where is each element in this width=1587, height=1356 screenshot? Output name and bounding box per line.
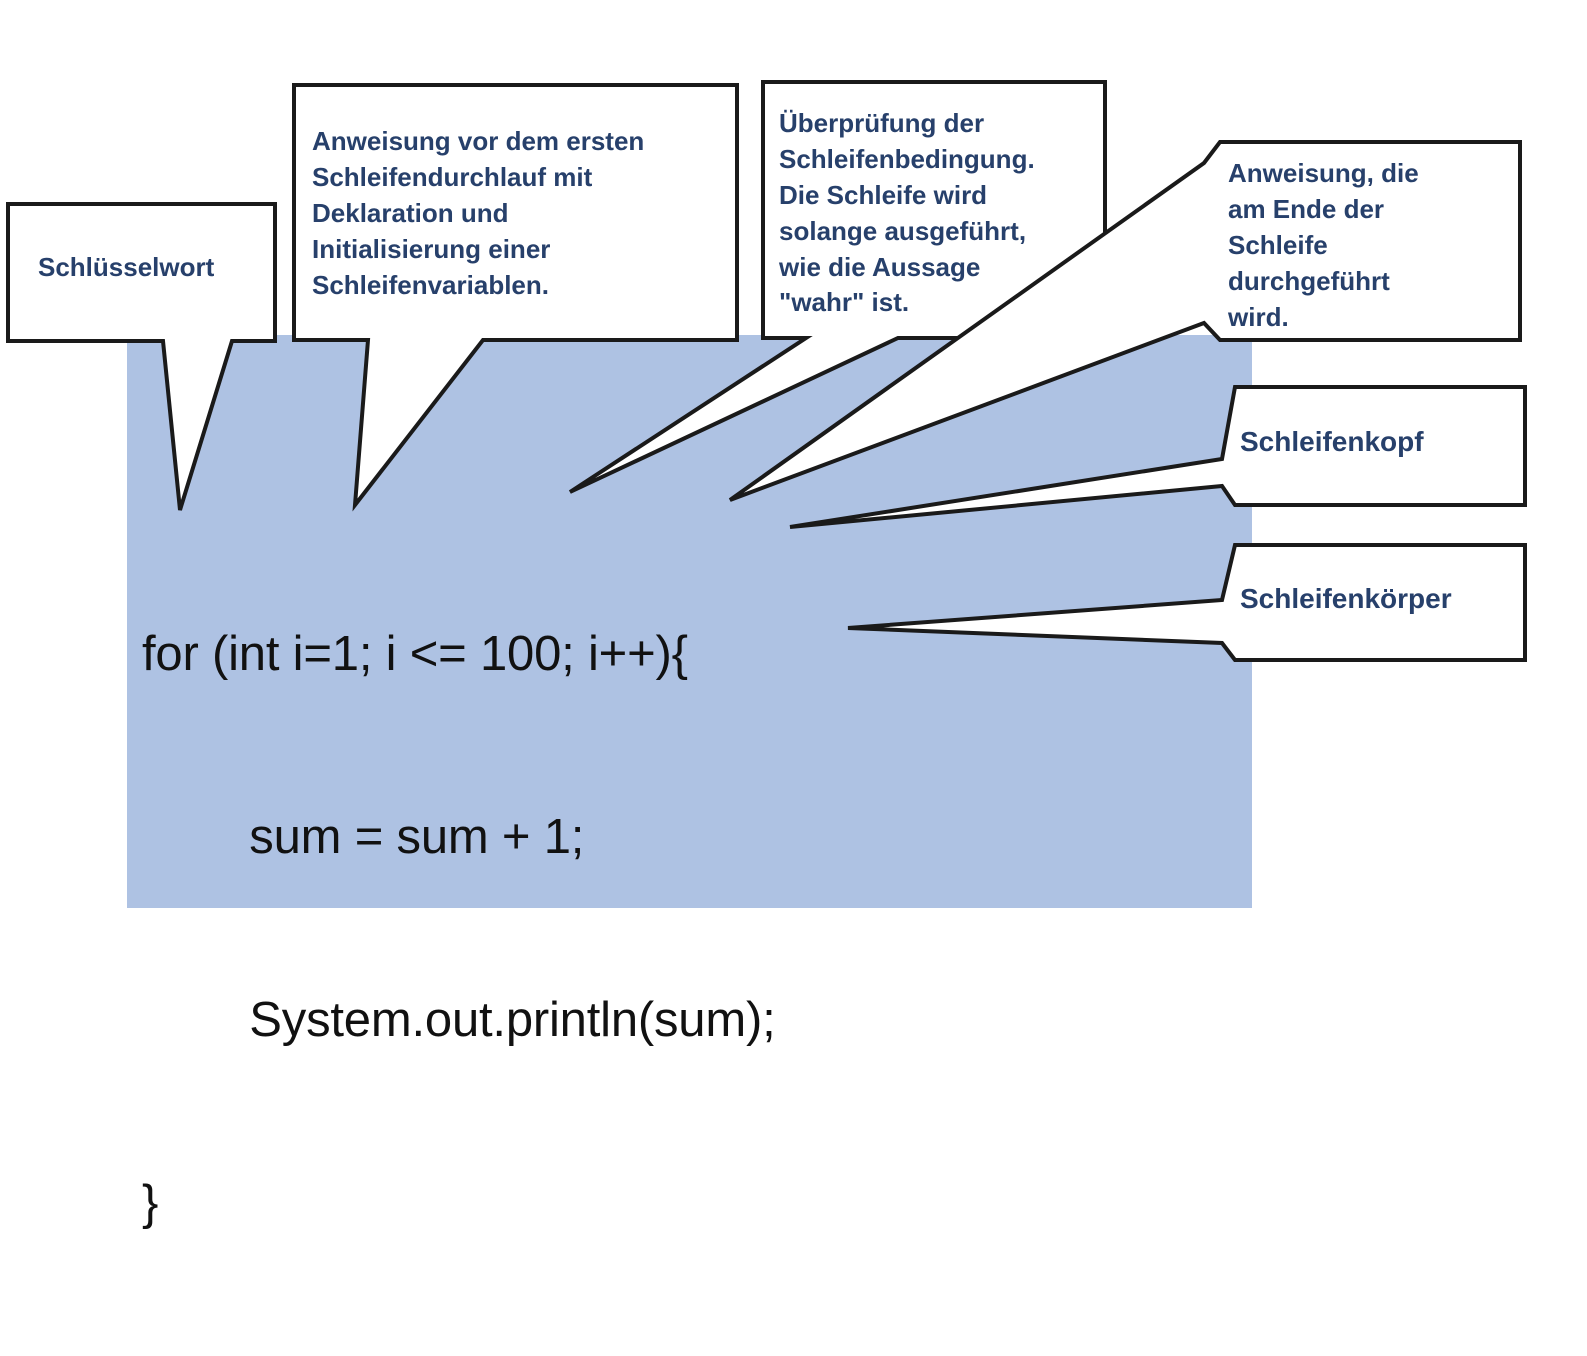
- callout-initialization-label: Anweisung vor dem ersten Schleifendurchl…: [312, 124, 716, 303]
- callout-loop-body-label: Schleifenkörper: [1240, 582, 1516, 616]
- code-listing: for (int i=1; i <= 100; i++){ sum = sum …: [142, 502, 776, 1356]
- code-line-closing-brace: }: [142, 1173, 776, 1234]
- callout-loop-head-label: Schleifenkopf: [1240, 425, 1516, 459]
- slide-canvas: Schlüsselwort Anweisung vor dem ersten S…: [0, 0, 1587, 1186]
- callout-increment-label: Anweisung, die am Ende der Schleife durc…: [1228, 156, 1468, 335]
- code-line-sum-assignment: sum = sum + 1;: [142, 807, 776, 868]
- callout-condition-label: Überprüfung der Schleifenbedingung. Die …: [779, 106, 1095, 321]
- code-line-for-statement: for (int i=1; i <= 100; i++){: [142, 624, 776, 685]
- code-line-println: System.out.println(sum);: [142, 990, 776, 1051]
- callout-keyword-label: Schlüsselwort: [38, 252, 268, 284]
